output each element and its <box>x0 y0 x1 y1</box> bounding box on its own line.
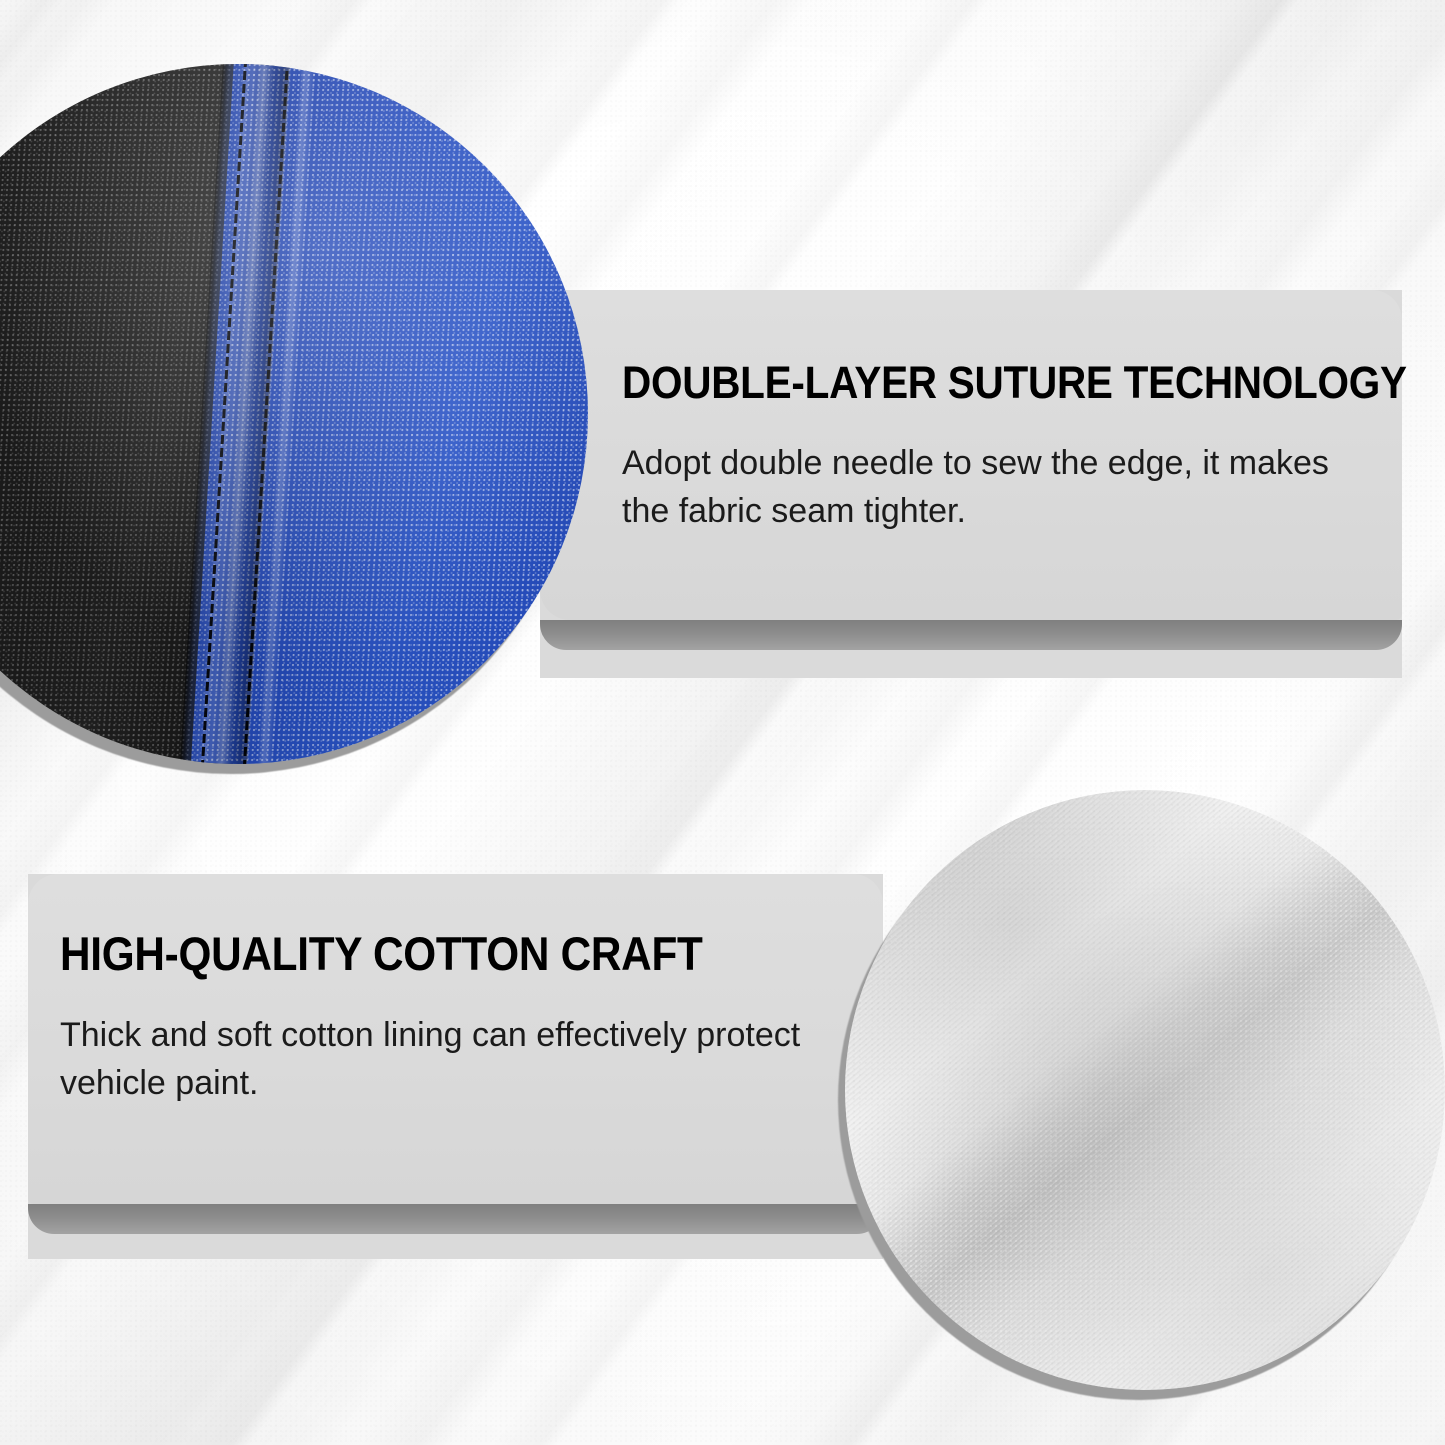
cotton-lining-photo <box>845 790 1445 1390</box>
fabric-seam-photo-circle <box>0 64 588 764</box>
cotton-lining-photo-circle <box>845 790 1445 1390</box>
feature-title-suture: DOUBLE-LAYER SUTURE TECHNOLOGY <box>622 360 1306 405</box>
feature-card-suture-text: DOUBLE-LAYER SUTURE TECHNOLOGY Adopt dou… <box>622 360 1382 536</box>
fabric-seam-photo <box>0 64 588 764</box>
feature-card-cotton-bottom-bar <box>28 1204 883 1234</box>
feature-title-cotton: HIGH-QUALITY COTTON CRAFT <box>60 930 753 977</box>
feature-card-suture-bottom-bar <box>540 620 1402 650</box>
feature-description-cotton: Thick and soft cotton lining can effecti… <box>60 1011 822 1108</box>
feature-description-suture: Adopt double needle to sew the edge, it … <box>622 439 1338 536</box>
infographic-canvas: DOUBLE-LAYER SUTURE TECHNOLOGY Adopt dou… <box>0 0 1445 1445</box>
feature-card-cotton-text: HIGH-QUALITY COTTON CRAFT Thick and soft… <box>60 930 830 1108</box>
cotton-lining-lighting <box>845 790 1445 1390</box>
